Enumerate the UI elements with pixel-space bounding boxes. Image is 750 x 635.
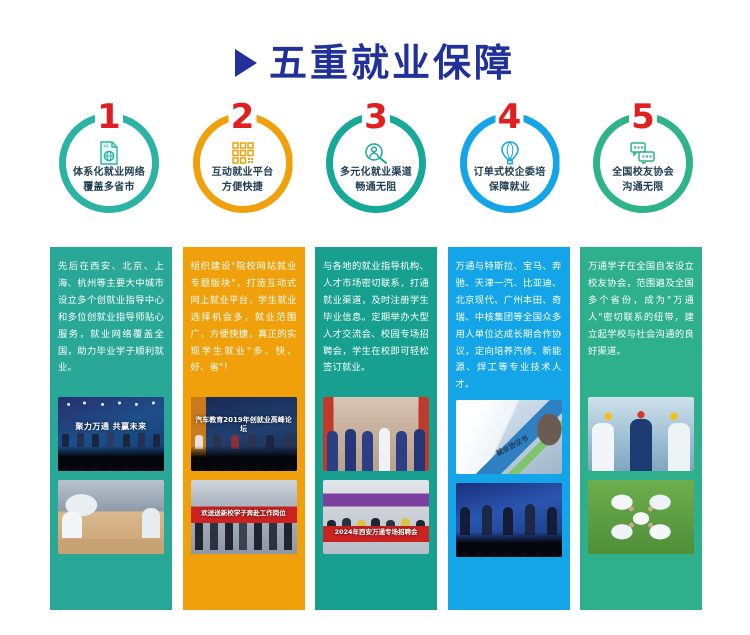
column-row: 先后在西安、北京、上海、杭州等主要大中城市设立多个创就业指导中心和多位创就业指导… bbox=[50, 247, 702, 610]
column-photos bbox=[588, 397, 694, 563]
photo-caption: 汽车教育2019年创就业高峰论坛 bbox=[191, 416, 297, 433]
signing-ceremony-photo bbox=[456, 483, 562, 557]
technicians-workshop-photo bbox=[588, 397, 694, 471]
infographic-root: 五重就业保障 1 体系化就业网络 覆盖多省市 bbox=[0, 0, 750, 635]
badge-4[interactable]: 4 订单式校企委培 保障就业 bbox=[451, 104, 569, 222]
column-text: 先后在西安、北京、上海、杭州等主要大中城市设立多个创就业指导中心和多位创就业指导… bbox=[58, 259, 164, 391]
badge-1[interactable]: 1 体系化就业网络 覆盖多省市 bbox=[50, 104, 168, 222]
badge-label-line1: 体系化就业网络 bbox=[50, 166, 168, 181]
badge-2[interactable]: 2 互动就业平台 方便快捷 bbox=[184, 104, 302, 222]
badge-label-line1: 订单式校企委培 bbox=[451, 166, 569, 181]
service-counter-photo bbox=[58, 480, 164, 554]
badge-number: 5 bbox=[584, 100, 702, 134]
badge-label-line2: 覆盖多省市 bbox=[50, 181, 168, 196]
column-2: 组织建设"院校网站就业专题版块"，打造互动式网上就业平台，学生就业选择机会多，就… bbox=[183, 247, 305, 610]
column-1: 先后在西安、北京、上海、杭州等主要大中城市设立多个创就业指导中心和多位创就业指导… bbox=[50, 247, 172, 610]
badge-number: 1 bbox=[50, 100, 168, 134]
page-title: 五重就业保障 bbox=[0, 44, 750, 82]
photo-caption: 聚力万通 共赢未来 bbox=[58, 422, 164, 432]
badge-label: 体系化就业网络 覆盖多省市 bbox=[50, 166, 168, 195]
badge-number: 4 bbox=[451, 100, 569, 134]
column-text: 万通与特斯拉、宝马、奔驰、天津一汽、比亚迪、北京现代、广州本田、奇瑞、中核集团等… bbox=[456, 259, 562, 394]
badge-label-line1: 互动就业平台 bbox=[184, 166, 302, 181]
column-photos: 汽车教育2019年创就业高峰论坛 欢送送新校学子奔赴工作岗位 bbox=[191, 397, 297, 563]
column-text: 组织建设"院校网站就业专题版块"，打造互动式网上就业平台，学生就业选择机会多，就… bbox=[191, 259, 297, 391]
badge-label-line2: 保障就业 bbox=[451, 181, 569, 196]
column-photos: 聚力万通 共赢未来 bbox=[58, 397, 164, 563]
column-4: 万通与特斯拉、宝马、奔驰、天津一汽、比亚迪、北京现代、广州本田、奇瑞、中核集团等… bbox=[448, 247, 570, 610]
badge-label-line2: 沟通无限 bbox=[584, 181, 702, 196]
job-fair-photo: 2024年西安万通专场招聘会 bbox=[323, 480, 429, 554]
banner-group-photo: 欢送送新校学子奔赴工作岗位 bbox=[191, 480, 297, 554]
forum-panel-photo: 汽车教育2019年创就业高峰论坛 bbox=[191, 397, 297, 471]
badge-row: 1 体系化就业网络 覆盖多省市 2 bbox=[50, 104, 702, 222]
page-title-text: 五重就业保障 bbox=[269, 44, 515, 82]
column-5: 万通学子在全国自发设立校友协会，范围遍及全国多个省份，成为"万通人"密切联系的纽… bbox=[580, 247, 702, 610]
column-text: 万通学子在全国自发设立校友协会，范围遍及全国多个省份，成为"万通人"密切联系的纽… bbox=[588, 259, 694, 391]
column-photos: 就业协议书 bbox=[456, 400, 562, 566]
document-globe-icon bbox=[50, 140, 168, 166]
column-text: 与各地的就业指导机构、人才市场密切联系，打通就业渠道，及时注册学生毕业信息。定期… bbox=[323, 259, 429, 391]
photo-caption: 2024年西安万通专场招聘会 bbox=[323, 529, 429, 537]
badge-label-line2: 方便快捷 bbox=[184, 181, 302, 196]
staff-group-photo bbox=[323, 397, 429, 471]
badge-label: 订单式校企委培 保障就业 bbox=[451, 166, 569, 195]
badge-label: 互动就业平台 方便快捷 bbox=[184, 166, 302, 195]
qr-code-icon bbox=[184, 140, 302, 166]
badge-label-line2: 畅通无阻 bbox=[317, 181, 435, 196]
triangle-right-icon bbox=[235, 49, 257, 77]
badge-label-line1: 多元化就业渠道 bbox=[317, 166, 435, 181]
badge-number: 2 bbox=[184, 100, 302, 134]
column-3: 与各地的就业指导机构、人才市场密切联系，打通就业渠道，及时注册学生毕业信息。定期… bbox=[315, 247, 437, 610]
badge-5[interactable]: 5 全国校友协会 沟通无限 bbox=[584, 104, 702, 222]
badge-label-line1: 全国校友协会 bbox=[584, 166, 702, 181]
badge-label: 全国校友协会 沟通无限 bbox=[584, 166, 702, 195]
person-search-icon bbox=[317, 140, 435, 166]
stage-ceremony-photo: 聚力万通 共赢未来 bbox=[58, 397, 164, 471]
employment-agreement-photo: 就业协议书 bbox=[456, 400, 562, 474]
hot-air-balloon-icon bbox=[451, 140, 569, 166]
photo-caption: 欢送送新校学子奔赴工作岗位 bbox=[191, 510, 297, 518]
badge-number: 3 bbox=[317, 100, 435, 134]
chat-bubbles-icon bbox=[584, 140, 702, 166]
badge-3[interactable]: 3 多元化就业渠道 畅通无阻 bbox=[317, 104, 435, 222]
column-photos: 2024年西安万通专场招聘会 bbox=[323, 397, 429, 563]
badge-label: 多元化就业渠道 畅通无阻 bbox=[317, 166, 435, 195]
students-circle-photo bbox=[588, 480, 694, 554]
